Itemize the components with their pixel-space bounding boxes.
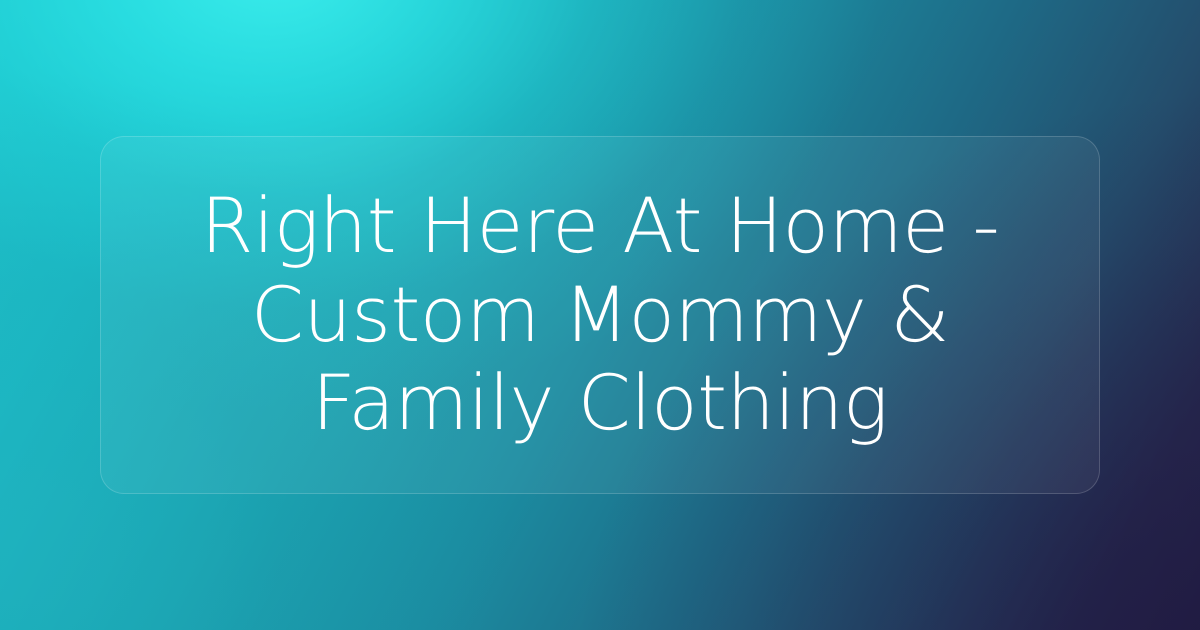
page-title: Right Here At Home - Custom Mommy & Fami… (135, 182, 1065, 449)
glass-card-content: Right Here At Home - Custom Mommy & Fami… (101, 182, 1099, 449)
glass-card-panel: Right Here At Home - Custom Mommy & Fami… (100, 136, 1100, 494)
og-card-canvas: Right Here At Home - Custom Mommy & Fami… (0, 0, 1200, 630)
